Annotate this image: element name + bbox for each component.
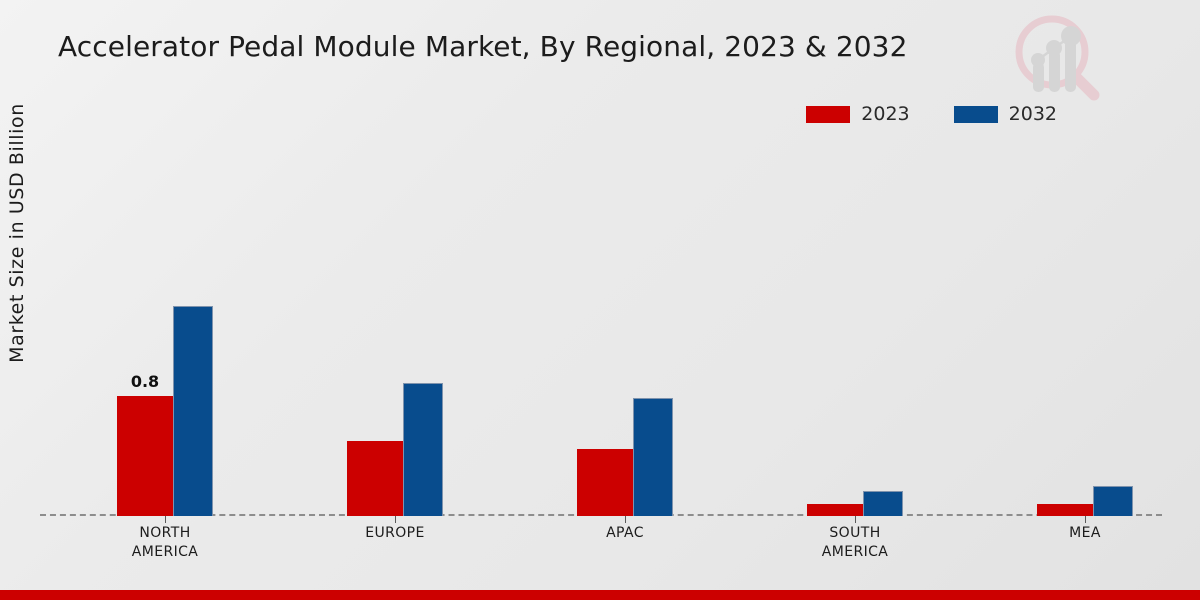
legend-item-2032[interactable]: 2032	[954, 103, 1057, 125]
bar-2032-3[interactable]	[863, 491, 903, 516]
bar-2032-1[interactable]	[403, 383, 443, 516]
bar-group-3: SOUTH AMERICA	[760, 140, 950, 516]
x-label-3: SOUTH AMERICA	[822, 524, 889, 562]
x-tick-2	[625, 516, 626, 523]
bar-value-2023-0: 0.8	[131, 372, 159, 391]
legend-item-2023[interactable]: 2023	[806, 103, 909, 125]
bar-2023-4[interactable]	[1037, 504, 1093, 516]
bar-group-4: MEA	[990, 140, 1180, 516]
bar-2023-2[interactable]	[577, 449, 633, 516]
bar-2023-3[interactable]	[807, 504, 863, 516]
plot-area: 0.8 NORTH AMERICA EUROPE APAC	[40, 140, 1162, 516]
bar-2032-4[interactable]	[1093, 486, 1133, 516]
bar-group-2: APAC	[530, 140, 720, 516]
y-axis-title: Market Size in USD Billion	[6, 68, 28, 398]
x-label-1: EUROPE	[365, 524, 425, 543]
bar-2032-2[interactable]	[633, 398, 673, 516]
x-label-0: NORTH AMERICA	[132, 524, 199, 562]
bottom-accent-band	[0, 590, 1200, 600]
x-label-4: MEA	[1069, 524, 1101, 543]
bar-2023-0[interactable]: 0.8	[117, 396, 173, 516]
watermark-logo-icon	[1008, 10, 1108, 110]
chart-container: Accelerator Pedal Module Market, By Regi…	[0, 0, 1200, 600]
bar-2032-0[interactable]	[173, 306, 213, 516]
x-label-2: APAC	[606, 524, 644, 543]
x-tick-3	[855, 516, 856, 523]
legend-label-2023: 2023	[861, 103, 909, 125]
bar-group-0: 0.8 NORTH AMERICA	[70, 140, 260, 516]
x-tick-1	[395, 516, 396, 523]
legend-swatch-2023	[806, 106, 850, 123]
legend-swatch-2032	[954, 106, 998, 123]
x-tick-0	[165, 516, 166, 523]
bar-2023-1[interactable]	[347, 441, 403, 516]
chart-legend: 2023 2032	[806, 103, 1057, 125]
chart-title: Accelerator Pedal Module Market, By Regi…	[58, 30, 908, 63]
x-tick-4	[1085, 516, 1086, 523]
legend-label-2032: 2032	[1009, 103, 1057, 125]
bar-group-1: EUROPE	[300, 140, 490, 516]
